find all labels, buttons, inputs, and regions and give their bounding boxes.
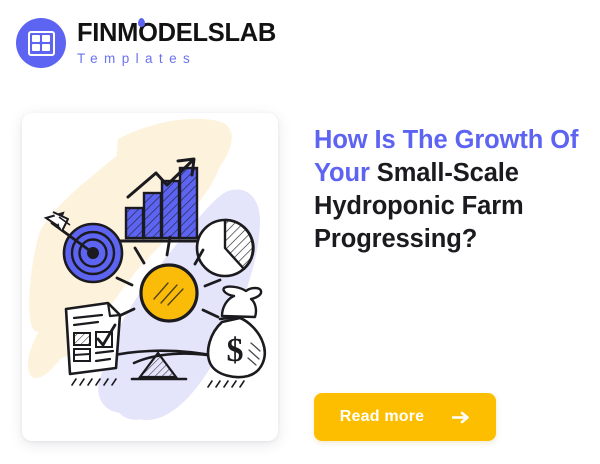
page-title: How Is The Growth Of Your Small-Scale Hy…: [314, 124, 582, 257]
brand-tagline: Templates: [77, 52, 276, 66]
business-growth-analytics-illustration: $: [22, 113, 278, 441]
headline-block: How Is The Growth Of Your Small-Scale Hy…: [314, 124, 582, 257]
arrow-right-icon: [452, 411, 470, 424]
brand-name-text: FINMODELSLAB: [77, 19, 276, 47]
read-more-label: Read more: [340, 408, 425, 426]
svg-text:$: $: [227, 332, 244, 369]
pie-chart: [197, 220, 253, 276]
grid-squares-icon: [28, 31, 55, 56]
promo-banner: FINMODELSLAB Templates: [0, 0, 600, 464]
illustration-card: $: [22, 113, 278, 441]
brand-name: FINMODELSLAB: [77, 21, 276, 47]
logo-mark: [16, 18, 66, 68]
read-more-button[interactable]: Read more: [314, 393, 496, 441]
logo-wordmark: FINMODELSLAB Templates: [77, 21, 276, 65]
brand-logo[interactable]: FINMODELSLAB Templates: [16, 18, 276, 68]
